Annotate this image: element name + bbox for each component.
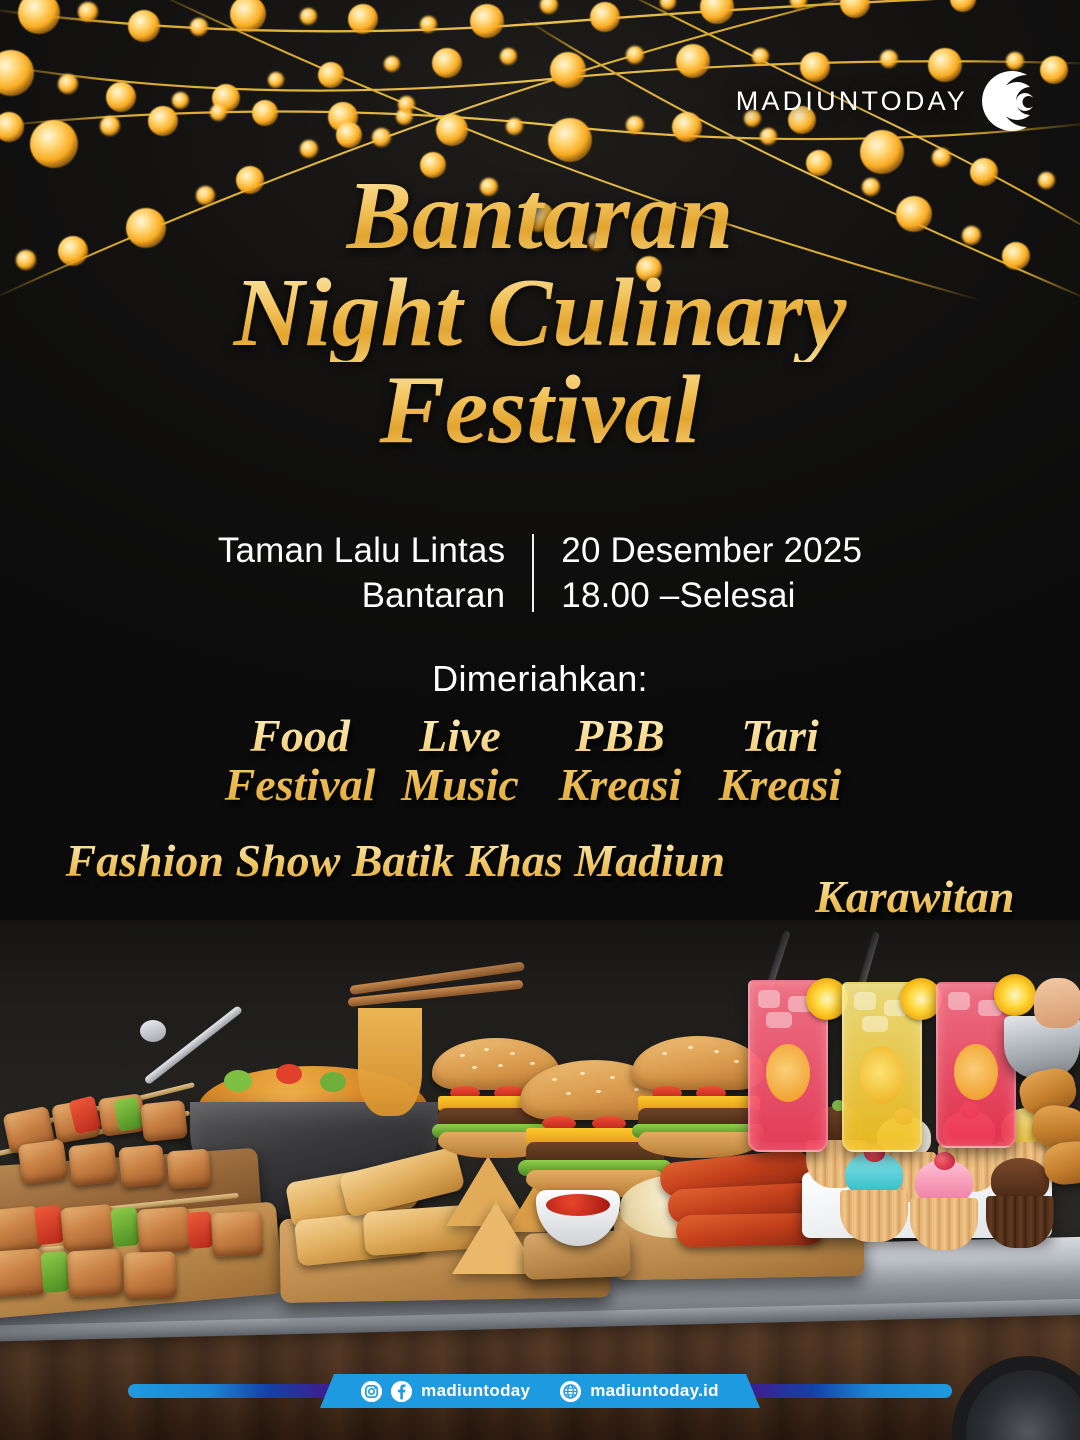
cupcake — [840, 1152, 908, 1242]
page-title: Bantaran Night Culinary Festival — [0, 168, 1080, 459]
lineup-act: PBB Kreasi — [540, 712, 700, 810]
satay-meat — [0, 1248, 46, 1298]
lineup-act: Live Music — [380, 712, 540, 810]
act-word: Food — [220, 712, 380, 761]
lineup-act-fashion-show: Fashion Show Batik Khas Madiun — [65, 836, 725, 886]
title-line-2: Night Culinary — [0, 265, 1080, 362]
satay-meat — [118, 1144, 165, 1188]
noodle-herb — [320, 1072, 346, 1092]
red-pepper-chunk — [187, 1211, 213, 1249]
cupcake-liner — [986, 1196, 1054, 1248]
burger-bun-top — [632, 1036, 764, 1090]
lineup-label: Dimeriahkan: — [0, 658, 1080, 700]
hand — [1034, 978, 1080, 1028]
chili-sauce — [546, 1194, 610, 1216]
act-word: Festival — [220, 761, 380, 810]
venue-line-2: Bantaran — [218, 573, 505, 618]
lineup-act: Food Festival — [220, 712, 380, 810]
green-pepper-chunk — [41, 1251, 70, 1293]
satay-meat — [167, 1149, 212, 1190]
event-time: 18.00 –Selesai — [561, 573, 862, 618]
lemon-slice — [994, 974, 1036, 1016]
instagram-icon[interactable] — [361, 1381, 382, 1402]
act-word: PBB — [540, 712, 700, 761]
satay-meat — [67, 1249, 123, 1298]
satay-meat — [140, 1100, 188, 1142]
photo-top-fade — [0, 920, 1080, 980]
datetime-block: 20 Desember 2025 18.00 –Selesai — [534, 528, 862, 618]
green-pepper-chunk — [110, 1207, 139, 1247]
website-url[interactable]: madiuntoday.id — [590, 1381, 719, 1401]
venue-line-1: Taman Lalu Lintas — [218, 528, 505, 573]
globe-icon[interactable] — [560, 1381, 581, 1402]
lineup-acts-row-1: Food Festival Live Music PBB Kreasi Tari… — [0, 712, 1080, 810]
act-word: Music — [380, 761, 540, 810]
noodle-tomato — [276, 1064, 302, 1084]
strawberry-topper — [934, 1152, 955, 1170]
satay-meat — [137, 1206, 192, 1254]
cupcake — [910, 1160, 978, 1250]
satay-meat — [211, 1211, 263, 1258]
act-word: Kreasi — [700, 761, 860, 810]
ladle-head — [140, 1020, 166, 1042]
act-word: Tari — [700, 712, 860, 761]
lineup-act: Tari Kreasi — [700, 712, 860, 810]
cupcake-liner — [840, 1190, 908, 1242]
footer-social-bar: madiuntoday madiuntoday.id — [0, 1374, 1080, 1408]
facebook-icon[interactable] — [391, 1381, 412, 1402]
event-poster: MADIUNTODAY Bantaran Night Culinary Fest… — [0, 0, 1080, 1440]
act-word: Kreasi — [540, 761, 700, 810]
social-handle[interactable]: madiuntoday — [421, 1381, 530, 1401]
act-word: Fashion Show — [65, 835, 340, 886]
lineup-acts-row-2: Fashion Show Batik Khas Madiun Karawitan — [0, 836, 1080, 923]
event-info-row: Taman Lalu Lintas Bantaran 20 Desember 2… — [0, 528, 1080, 618]
satay-meat — [60, 1204, 116, 1252]
red-pepper-chunk — [34, 1205, 64, 1246]
cupcake-liner — [910, 1198, 978, 1250]
title-line-1: Bantaran — [0, 168, 1080, 265]
cupcake — [986, 1158, 1054, 1248]
noodle-garnish — [224, 1070, 252, 1092]
satay-meat — [68, 1142, 118, 1187]
title-line-3: Festival — [0, 362, 1080, 459]
venue-block: Taman Lalu Lintas Bantaran — [218, 528, 532, 618]
event-date: 20 Desember 2025 — [561, 528, 862, 573]
burger-back-right — [632, 1036, 764, 1148]
lifted-noodles — [358, 1008, 422, 1116]
brand-logo-text: MADIUNTODAY — [736, 86, 968, 117]
brand-logo: MADIUNTODAY — [736, 62, 1042, 140]
act-word: Live — [380, 712, 540, 761]
satay-meat — [17, 1139, 68, 1185]
crescent-swirl-icon — [964, 62, 1042, 140]
satay-meat — [123, 1251, 177, 1299]
food-spread-photo — [0, 920, 1080, 1440]
act-word: Batik Khas Madiun — [352, 835, 725, 886]
footer-banner: madiuntoday madiuntoday.id — [320, 1374, 760, 1408]
lineup-act-karawitan: Karawitan — [815, 870, 1014, 923]
